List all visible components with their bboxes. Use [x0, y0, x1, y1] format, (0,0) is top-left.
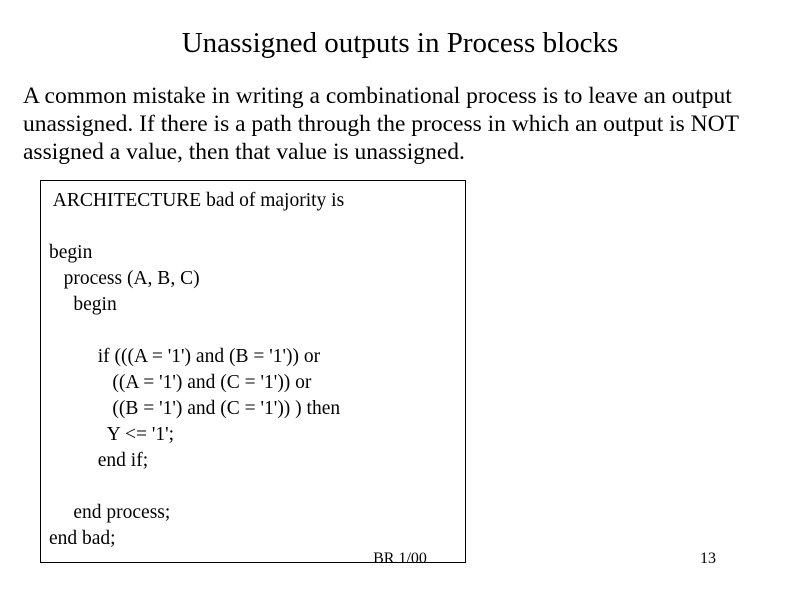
page-number: 13 — [700, 549, 760, 569]
slide-title: Unassigned outputs in Process blocks — [0, 26, 800, 60]
code-line: if (((A = '1') and (B = '1')) or — [49, 344, 459, 370]
code-line: end if; — [49, 448, 459, 474]
code-line — [49, 214, 459, 240]
code-line: end process; — [49, 500, 459, 526]
code-line: ((B = '1') and (C = '1')) ) then — [49, 396, 459, 422]
footer-note: BR 1/00 — [0, 549, 800, 569]
code-line: process (A, B, C) — [49, 266, 459, 292]
slide-body-text: A common mistake in writing a combinatio… — [23, 82, 767, 166]
code-example-box: ARCHITECTURE bad of majority is begin pr… — [40, 180, 466, 563]
code-line: begin — [49, 292, 459, 318]
code-line — [49, 318, 459, 344]
code-line — [49, 474, 459, 500]
code-line: begin — [49, 240, 459, 266]
vhdl-code-listing: ARCHITECTURE bad of majority is begin pr… — [49, 188, 459, 552]
slide: Unassigned outputs in Process blocks A c… — [0, 0, 800, 600]
code-line: ARCHITECTURE bad of majority is — [49, 188, 459, 214]
code-line: Y <= '1'; — [49, 422, 459, 448]
code-line: ((A = '1') and (C = '1')) or — [49, 370, 459, 396]
